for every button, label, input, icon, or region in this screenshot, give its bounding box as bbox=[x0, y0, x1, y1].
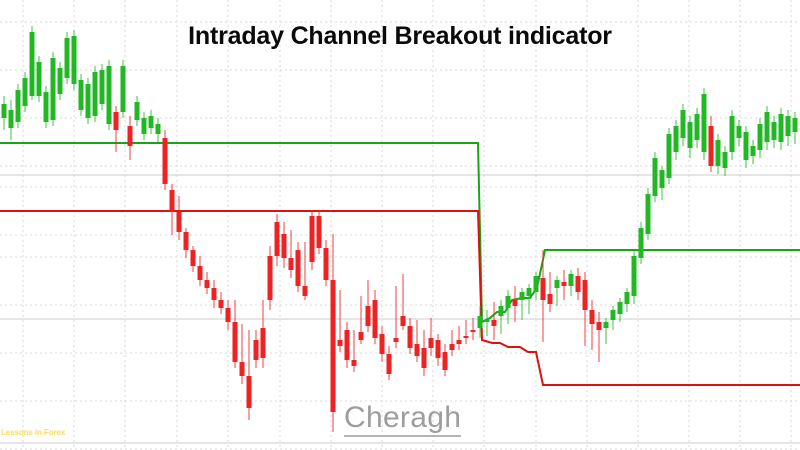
candle-bullish bbox=[681, 104, 686, 146]
candle-bearish bbox=[443, 344, 448, 376]
candle-bullish bbox=[779, 108, 784, 150]
candle-bearish bbox=[170, 184, 175, 235]
candle-body bbox=[737, 126, 742, 138]
candle-body bbox=[478, 316, 483, 328]
candle-bearish bbox=[205, 272, 210, 294]
candle-bullish bbox=[786, 110, 791, 146]
candle-body bbox=[583, 280, 588, 310]
candle-bearish bbox=[233, 300, 238, 368]
candle-bullish bbox=[51, 52, 56, 126]
candle-bullish bbox=[569, 270, 574, 296]
page-title: Intraday Channel Breakout indicator bbox=[0, 22, 800, 51]
candle-bearish bbox=[380, 326, 385, 362]
candle-bearish bbox=[128, 116, 133, 160]
candle-body bbox=[359, 332, 364, 340]
candle-bearish bbox=[373, 290, 378, 344]
source-credit-label: Lessons in Forex bbox=[1, 428, 65, 437]
candle-body bbox=[121, 66, 126, 112]
candle-bullish bbox=[730, 110, 735, 160]
candle-body bbox=[317, 216, 322, 248]
candle-body bbox=[310, 216, 315, 262]
candle-body bbox=[51, 58, 56, 120]
candlesticks-layer bbox=[2, 26, 798, 432]
candle-body bbox=[436, 340, 441, 358]
candle-bearish bbox=[289, 230, 294, 278]
candle-body bbox=[401, 316, 406, 326]
candle-body bbox=[576, 276, 581, 292]
candle-body bbox=[681, 110, 686, 138]
candle-bullish bbox=[485, 310, 490, 336]
candle-bullish bbox=[555, 276, 560, 306]
candle-body bbox=[639, 228, 644, 258]
candle-bullish bbox=[625, 288, 630, 312]
candle-bearish bbox=[303, 242, 308, 300]
watermark-logo: Cheragh bbox=[344, 402, 461, 437]
candle-body bbox=[9, 110, 14, 128]
candle-body bbox=[751, 146, 756, 156]
candle-bullish bbox=[534, 272, 539, 300]
candle-bullish bbox=[765, 106, 770, 150]
candle-body bbox=[632, 256, 637, 296]
candle-body bbox=[492, 320, 497, 326]
upper-channel-line bbox=[0, 143, 800, 322]
candle-body bbox=[135, 102, 140, 120]
candle-body bbox=[198, 266, 203, 280]
candle-bullish bbox=[793, 112, 798, 144]
candle-bearish bbox=[401, 274, 406, 330]
candle-bullish bbox=[618, 298, 623, 322]
candle-bearish bbox=[345, 322, 350, 368]
candle-body bbox=[79, 80, 84, 110]
candle-body bbox=[170, 190, 175, 212]
candle-bearish bbox=[254, 330, 259, 368]
candle-bullish bbox=[758, 118, 763, 158]
candle-bearish bbox=[408, 318, 413, 354]
candle-body bbox=[303, 286, 308, 296]
candle-body bbox=[44, 92, 49, 122]
candle-bearish bbox=[436, 334, 441, 366]
candle-body bbox=[191, 250, 196, 266]
candle-body bbox=[422, 348, 427, 368]
candle-bearish bbox=[177, 196, 182, 240]
candle-bearish bbox=[317, 210, 322, 254]
candle-bullish bbox=[751, 140, 756, 164]
candle-body bbox=[345, 330, 350, 360]
candle-body bbox=[695, 114, 700, 140]
chart-screenshot: Intraday Channel Breakout indicator Cher… bbox=[0, 0, 800, 450]
candle-body bbox=[520, 292, 525, 300]
candle-body bbox=[534, 276, 539, 292]
candle-bullish bbox=[37, 56, 42, 102]
candle-bullish bbox=[772, 116, 777, 148]
candle-bullish bbox=[737, 120, 742, 146]
candle-bearish bbox=[247, 330, 252, 420]
candle-bearish bbox=[422, 330, 427, 376]
candle-body bbox=[261, 328, 266, 358]
candle-body bbox=[324, 248, 329, 280]
candle-bullish bbox=[58, 62, 63, 100]
candle-body bbox=[653, 158, 658, 196]
candle-body bbox=[429, 338, 434, 348]
candle-body bbox=[471, 330, 476, 332]
candle-body bbox=[765, 112, 770, 142]
candle-body bbox=[331, 280, 336, 412]
candle-body bbox=[373, 300, 378, 338]
candle-body bbox=[569, 274, 574, 286]
candle-body bbox=[646, 194, 651, 234]
candle-bullish bbox=[499, 300, 504, 334]
candle-bullish bbox=[100, 64, 105, 110]
candle-bearish bbox=[548, 272, 553, 312]
candle-bearish bbox=[310, 210, 315, 270]
candle-bullish bbox=[121, 60, 126, 118]
candle-body bbox=[352, 360, 357, 366]
candle-body bbox=[149, 116, 154, 128]
candle-bearish bbox=[275, 214, 280, 266]
lower-channel-line bbox=[0, 211, 800, 385]
candle-body bbox=[156, 124, 161, 134]
candle-body bbox=[464, 336, 469, 338]
candle-body bbox=[58, 68, 63, 94]
candle-body bbox=[380, 334, 385, 354]
candle-bullish bbox=[695, 108, 700, 148]
candle-bullish bbox=[142, 112, 147, 140]
candle-bullish bbox=[135, 96, 140, 126]
candle-bullish bbox=[639, 222, 644, 264]
candle-body bbox=[786, 116, 791, 136]
candle-body bbox=[660, 170, 665, 188]
candle-body bbox=[247, 376, 252, 408]
candle-bearish bbox=[359, 296, 364, 344]
candle-bearish bbox=[387, 346, 392, 380]
candle-bearish bbox=[366, 280, 371, 332]
candle-body bbox=[212, 288, 217, 300]
candle-bullish bbox=[646, 188, 651, 240]
candle-body bbox=[590, 310, 595, 324]
candle-bearish bbox=[198, 256, 203, 286]
candle-bullish bbox=[716, 134, 721, 174]
candle-bearish bbox=[219, 292, 224, 314]
candle-body bbox=[114, 112, 119, 130]
candle-body bbox=[688, 122, 693, 148]
candle-bearish bbox=[464, 320, 469, 344]
candle-body bbox=[254, 340, 259, 360]
candle-body bbox=[177, 212, 182, 232]
candle-body bbox=[723, 152, 728, 168]
candle-body bbox=[506, 296, 511, 308]
candle-bullish bbox=[632, 250, 637, 304]
candle-bearish bbox=[450, 330, 455, 356]
candle-body bbox=[548, 294, 553, 304]
candle-body bbox=[457, 340, 462, 344]
candle-bearish bbox=[268, 246, 273, 310]
candle-bearish bbox=[331, 234, 336, 432]
candle-body bbox=[793, 118, 798, 132]
candle-bearish bbox=[415, 320, 420, 362]
candle-body bbox=[541, 278, 546, 300]
candle-bearish bbox=[296, 242, 301, 292]
candlestick-chart bbox=[0, 0, 800, 450]
candle-bullish bbox=[86, 78, 91, 124]
candle-bearish bbox=[471, 318, 476, 340]
candle-bearish bbox=[576, 268, 581, 300]
candle-bearish bbox=[457, 326, 462, 350]
grid-layer bbox=[0, 0, 800, 450]
candle-body bbox=[555, 280, 560, 288]
candle-bearish bbox=[114, 106, 119, 152]
candle-body bbox=[93, 72, 98, 116]
candle-bullish bbox=[16, 84, 21, 128]
candle-body bbox=[107, 66, 112, 124]
candle-bearish bbox=[212, 280, 217, 308]
candle-bearish bbox=[191, 246, 196, 272]
candle-body bbox=[702, 94, 707, 152]
candle-bullish bbox=[660, 166, 665, 200]
candle-body bbox=[758, 124, 763, 150]
candle-body bbox=[485, 320, 490, 322]
candle-bullish bbox=[9, 100, 14, 140]
candle-body bbox=[142, 118, 147, 134]
candle-bearish bbox=[583, 272, 588, 346]
candle-bullish bbox=[44, 86, 49, 128]
candle-bearish bbox=[163, 130, 168, 190]
candle-body bbox=[604, 322, 609, 328]
candle-body bbox=[268, 256, 273, 300]
candle-bearish bbox=[338, 290, 343, 352]
candle-bullish bbox=[702, 88, 707, 160]
candle-body bbox=[23, 78, 28, 106]
candle-body bbox=[163, 138, 168, 184]
candle-body bbox=[100, 70, 105, 104]
candle-body bbox=[674, 126, 679, 152]
candle-body bbox=[16, 90, 21, 122]
candle-body bbox=[128, 126, 133, 146]
candle-body bbox=[527, 288, 532, 296]
candle-body bbox=[282, 234, 287, 258]
candle-bearish bbox=[709, 116, 714, 172]
candle-body bbox=[205, 280, 210, 288]
candle-bullish bbox=[688, 116, 693, 158]
candle-body bbox=[226, 308, 231, 322]
candle-body bbox=[716, 140, 721, 166]
candle-body bbox=[86, 84, 91, 118]
candle-body bbox=[394, 338, 399, 342]
candle-body bbox=[2, 104, 7, 118]
candle-body bbox=[443, 352, 448, 370]
candle-body bbox=[289, 258, 294, 270]
candle-body bbox=[597, 322, 602, 330]
candle-bullish bbox=[611, 306, 616, 330]
candle-body bbox=[562, 282, 567, 286]
candle-bullish bbox=[93, 66, 98, 122]
candle-body bbox=[408, 326, 413, 348]
channel-lines-layer bbox=[0, 143, 800, 385]
candle-body bbox=[625, 292, 630, 304]
candle-bearish bbox=[324, 240, 329, 286]
candle-body bbox=[611, 310, 616, 320]
candle-bullish bbox=[604, 318, 609, 344]
candle-body bbox=[450, 344, 455, 350]
candle-bearish bbox=[184, 228, 189, 258]
candle-body bbox=[296, 250, 301, 286]
candle-bullish bbox=[107, 60, 112, 130]
candle-bullish bbox=[744, 126, 749, 168]
candle-body bbox=[338, 340, 343, 346]
candle-body bbox=[366, 306, 371, 326]
candle-bearish bbox=[352, 330, 357, 372]
candle-body bbox=[233, 322, 238, 362]
candle-bearish bbox=[261, 300, 266, 368]
candle-bullish bbox=[667, 128, 672, 184]
candle-bullish bbox=[156, 118, 161, 142]
candle-bearish bbox=[394, 286, 399, 348]
candle-body bbox=[730, 116, 735, 152]
candle-body bbox=[499, 306, 504, 316]
candle-body bbox=[667, 134, 672, 178]
candle-body bbox=[779, 114, 784, 142]
candle-bearish bbox=[513, 286, 518, 322]
candle-bearish bbox=[492, 302, 497, 340]
candle-bearish bbox=[590, 300, 595, 350]
candle-body bbox=[772, 122, 777, 140]
candle-body bbox=[184, 232, 189, 250]
candle-body bbox=[415, 344, 420, 356]
candle-bearish bbox=[282, 222, 287, 268]
candle-bullish bbox=[149, 110, 154, 134]
candle-bullish bbox=[520, 288, 525, 320]
candle-body bbox=[744, 132, 749, 160]
candle-body bbox=[240, 362, 245, 376]
candle-bullish bbox=[723, 146, 728, 176]
candle-bullish bbox=[653, 152, 658, 202]
candle-body bbox=[387, 354, 392, 374]
candle-bullish bbox=[2, 96, 7, 130]
candle-body bbox=[709, 126, 714, 166]
candle-body bbox=[275, 222, 280, 256]
candle-bearish bbox=[240, 324, 245, 384]
candle-body bbox=[37, 62, 42, 96]
candle-body bbox=[219, 300, 224, 308]
candle-body bbox=[618, 302, 623, 314]
candle-bullish bbox=[79, 74, 84, 116]
candle-bearish bbox=[562, 270, 567, 300]
candle-body bbox=[513, 300, 518, 306]
candle-bullish bbox=[674, 120, 679, 160]
candle-bullish bbox=[23, 72, 28, 112]
